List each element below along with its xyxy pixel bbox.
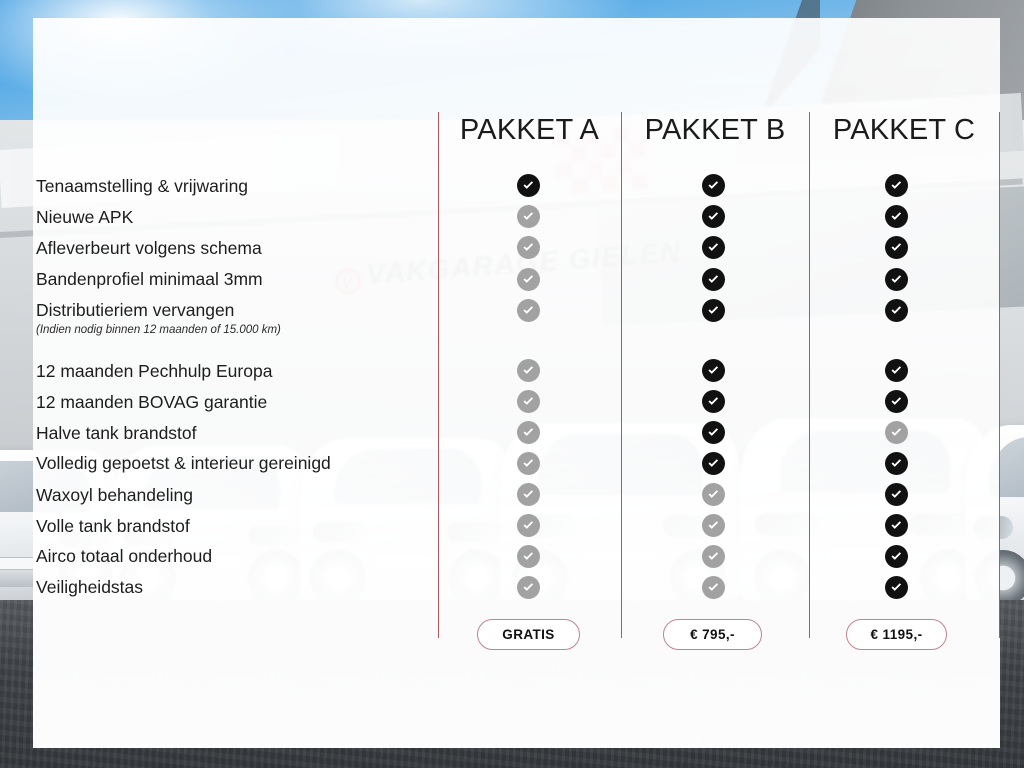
price-badge-pakket-c[interactable]: € 1195,-	[846, 619, 947, 650]
feature-label: Volle tank brandstof	[36, 518, 190, 536]
check-circle-icon	[517, 299, 540, 322]
check-circle-icon	[885, 452, 908, 475]
column-header-pakket-a: PAKKET A	[438, 114, 621, 150]
check-circle-icon	[517, 576, 540, 599]
check-circle-icon	[885, 299, 908, 322]
check-circle-icon	[702, 174, 725, 197]
check-circle-icon	[885, 359, 908, 382]
feature-label: Tenaamstelling & vrijwaring	[36, 178, 248, 196]
feature-label: Airco totaal onderhoud	[36, 548, 212, 566]
package-comparison-table: PAKKET A PAKKET B PAKKET C Tenaamstellin…	[0, 0, 1024, 768]
feature-label: 12 maanden BOVAG garantie	[36, 394, 267, 412]
check-circle-icon	[885, 576, 908, 599]
check-circle-icon	[702, 514, 725, 537]
feature-label: Distributieriem vervangen	[36, 302, 234, 320]
check-circle-icon	[517, 390, 540, 413]
check-circle-icon	[517, 205, 540, 228]
feature-label: Waxoyl behandeling	[36, 487, 193, 505]
check-circle-icon	[885, 174, 908, 197]
feature-label: Afleverbeurt volgens schema	[36, 240, 262, 258]
column-header-pakket-b: PAKKET B	[621, 114, 809, 150]
check-circle-icon	[885, 236, 908, 259]
check-circle-icon	[885, 390, 908, 413]
column-divider-4	[999, 112, 1000, 638]
feature-label: Halve tank brandstof	[36, 425, 197, 443]
check-circle-icon	[702, 359, 725, 382]
check-circle-icon	[702, 421, 725, 444]
price-badge-pakket-a[interactable]: GRATIS	[477, 619, 580, 650]
check-circle-icon	[702, 576, 725, 599]
check-circle-icon	[702, 390, 725, 413]
feature-label: 12 maanden Pechhulp Europa	[36, 363, 272, 381]
column-divider-3	[809, 112, 810, 638]
column-divider-2	[621, 112, 622, 638]
check-circle-icon	[517, 268, 540, 291]
price-badge-pakket-b[interactable]: € 795,-	[663, 619, 762, 650]
feature-label: Bandenprofiel minimaal 3mm	[36, 271, 263, 289]
feature-label: Nieuwe APK	[36, 209, 133, 227]
check-circle-icon	[702, 268, 725, 291]
check-circle-icon	[702, 299, 725, 322]
check-circle-icon	[702, 452, 725, 475]
column-divider-1	[438, 112, 439, 638]
feature-note: (Indien nodig binnen 12 maanden of 15.00…	[36, 325, 281, 337]
column-header-pakket-c: PAKKET C	[809, 114, 999, 150]
check-circle-icon	[517, 514, 540, 537]
check-circle-icon	[517, 421, 540, 444]
check-circle-icon	[885, 483, 908, 506]
check-circle-icon	[517, 236, 540, 259]
check-circle-icon	[517, 359, 540, 382]
check-circle-icon	[517, 452, 540, 475]
check-circle-icon	[885, 545, 908, 568]
check-circle-icon	[702, 483, 725, 506]
slide-canvas: VVAKGARAGE GIELEN PAKK	[0, 0, 1024, 768]
check-circle-icon	[517, 545, 540, 568]
check-circle-icon	[885, 268, 908, 291]
check-circle-icon	[885, 205, 908, 228]
check-circle-icon	[702, 236, 725, 259]
check-circle-icon	[517, 174, 540, 197]
feature-label: Veiligheidstas	[36, 579, 143, 597]
check-circle-icon	[885, 421, 908, 444]
feature-label: Volledig gepoetst & interieur gereinigd	[36, 455, 331, 473]
check-circle-icon	[702, 545, 725, 568]
check-circle-icon	[702, 205, 725, 228]
check-circle-icon	[517, 483, 540, 506]
check-circle-icon	[885, 514, 908, 537]
